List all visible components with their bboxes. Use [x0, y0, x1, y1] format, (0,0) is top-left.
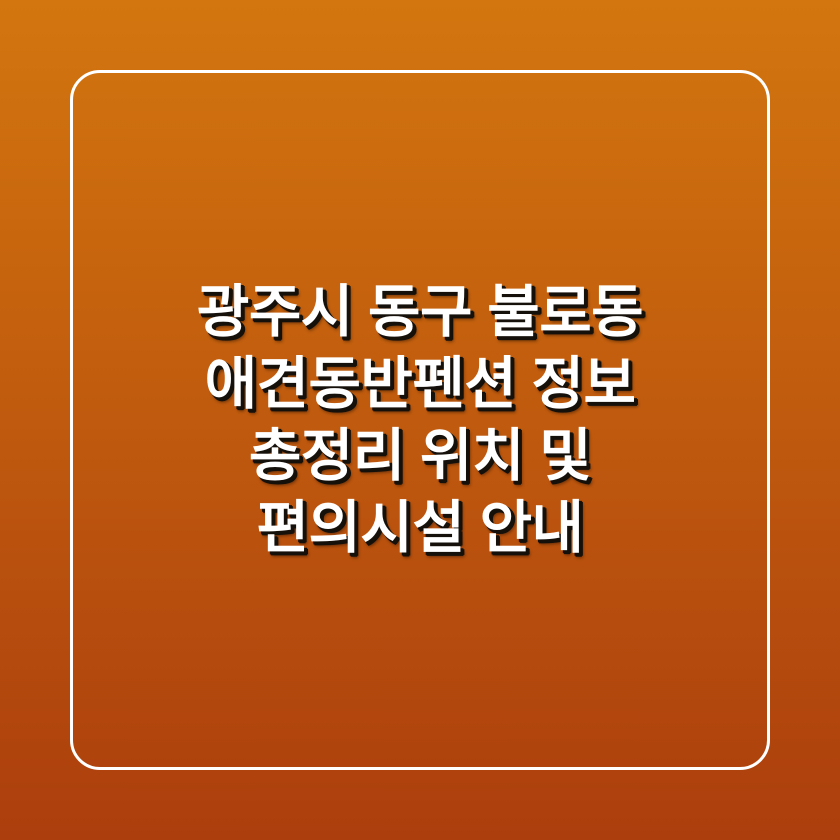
- headline-text-block: 광주시 동구 불로동 애견동반펜션 정보 총정리 위치 및 편의시설 안내: [70, 70, 770, 770]
- headline-line-1: 광주시 동구 불로동: [90, 276, 750, 348]
- headline-line-3: 총정리 위치 및: [90, 420, 750, 492]
- thumbnail-card: 광주시 동구 불로동 애견동반펜션 정보 총정리 위치 및 편의시설 안내: [0, 0, 840, 840]
- headline-line-4: 편의시설 안내: [90, 492, 750, 564]
- headline-line-2: 애견동반펜션 정보: [90, 348, 750, 420]
